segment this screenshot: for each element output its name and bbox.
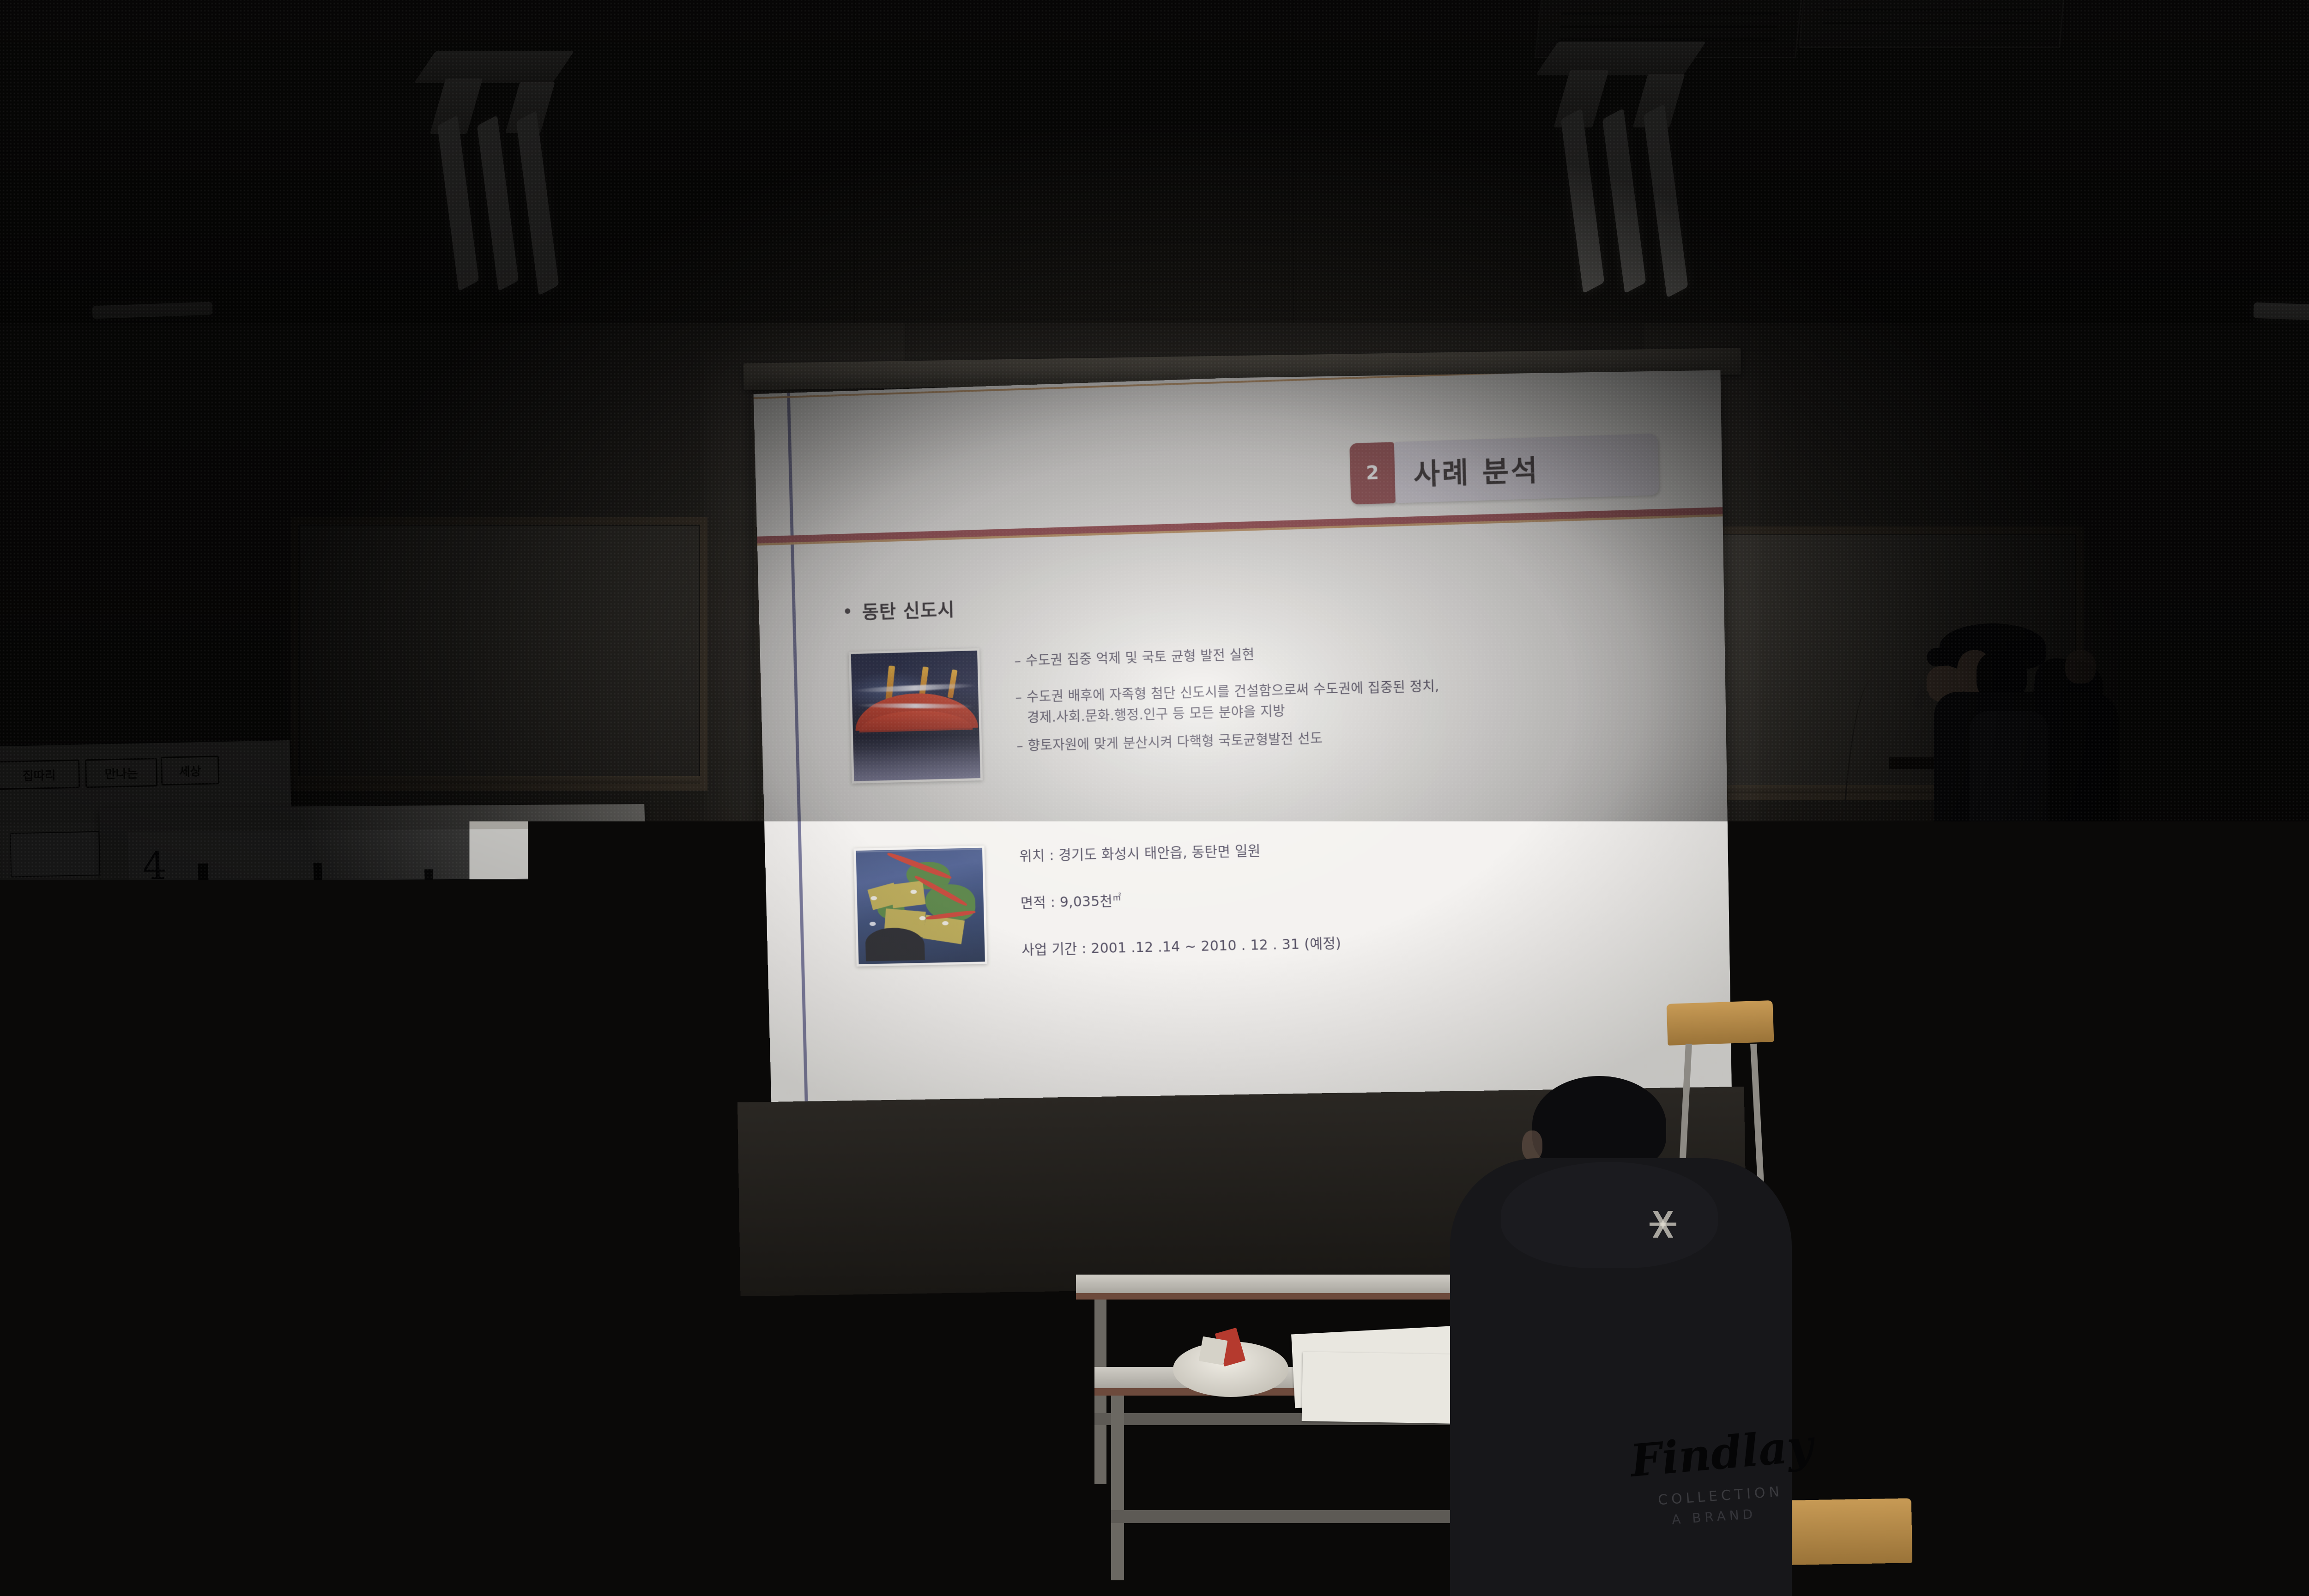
slide-title-divider-thin xyxy=(757,514,1726,545)
info-row-period: 사업 기간 : 2001 .12 .14 ~ 2010 . 12 . 31 (예… xyxy=(1022,925,1680,958)
bullet-dash-1: – xyxy=(1014,651,1022,671)
bullet-dot-icon xyxy=(845,608,850,614)
chair-under-board-1 xyxy=(295,1208,403,1252)
presenter xyxy=(1884,623,2143,1270)
seated-student-ear xyxy=(1522,1130,1542,1160)
info-row-location: 위치 : 경기도 화성시 태안읍, 동탄면 일원 xyxy=(1019,829,1678,865)
presenter-left-leg xyxy=(1962,1011,2031,1251)
info-label-period: 사업 기간 xyxy=(1022,941,1077,958)
bullet-text-2: 수도권 배후에 자족형 첨단 신도시를 건설함으로써 수도권에 집중된 정치, … xyxy=(1027,670,1674,728)
microphone xyxy=(1911,688,1930,710)
seated-student-hood xyxy=(1501,1162,1718,1268)
scattered-documents-right-2 xyxy=(2030,1302,2227,1381)
whiteboard-left xyxy=(291,517,707,791)
slide-section-badge: 2 사례 분석 xyxy=(1349,434,1659,505)
desk-foreground-right xyxy=(1016,1519,1755,1596)
ceiling-light-fixture-1 xyxy=(397,46,693,305)
slide-info-block: 위치 : 경기도 화성시 태안읍, 동탄면 일원 면적 : 9,035천㎡ 사업… xyxy=(1019,829,1681,985)
slide-bullet-list: – 수도권 집중 억제 및 국토 균형 발전 실현 – 수도권 배후에 자족형 … xyxy=(1014,633,1675,772)
slide-bullet-1: – 수도권 집중 억제 및 국토 균형 발전 실현 xyxy=(1014,633,1673,671)
slide-title-divider xyxy=(757,507,1725,544)
aerial-masterplan-photo xyxy=(853,846,987,967)
info-label-location: 위치 xyxy=(1019,848,1045,864)
slide-heading-text: 동탄 신도시 xyxy=(862,595,955,624)
ceiling xyxy=(0,0,2309,351)
classroom-presentation-scene: 2 사례 분석 동탄 신도시 xyxy=(0,0,2309,1596)
info-unit-area: ㎡ xyxy=(1112,893,1122,903)
hoodie-snowflake-emblem-icon xyxy=(1650,1211,1676,1238)
presenter-right-leg xyxy=(2033,1011,2105,1251)
document-near-hoodie xyxy=(1819,1263,1959,1309)
desk-foreground-left xyxy=(51,1445,374,1596)
slide-heading: 동탄 신도시 xyxy=(845,595,955,624)
slide-section-title: 사례 분석 xyxy=(1394,434,1659,503)
lectern-podium xyxy=(2170,891,2309,1307)
projection-screen: 2 사례 분석 동탄 신도시 xyxy=(751,370,1732,1111)
presenter-belt xyxy=(1962,993,2096,1013)
seated-student-center: Findlay COLLECTION A BRAND xyxy=(1432,1076,1801,1596)
slide-section-number: 2 xyxy=(1349,442,1396,504)
chair-near-screen xyxy=(1666,1000,1774,1046)
bridge-night-photo xyxy=(849,648,983,784)
info-row-area: 면적 : 9,035천㎡ xyxy=(1020,877,1679,912)
info-sep-3: : xyxy=(1082,941,1091,957)
whiteboard-tray-left xyxy=(284,776,700,784)
chair-under-board-2 xyxy=(498,1190,615,1236)
microphone-cable xyxy=(1838,679,1909,1256)
chair-far-right xyxy=(2249,1492,2309,1547)
info-value-period: 2001 .12 .14 ~ 2010 . 12 . 31 (예정) xyxy=(1091,936,1342,957)
presenter-inner-shirt xyxy=(1970,711,2048,961)
presentation-slide: 2 사례 분석 동탄 신도시 xyxy=(754,370,1732,1111)
slide-bullet-2: – 수도권 배후에 자족형 첨단 신도시를 건설함으로써 수도권에 집중된 정치… xyxy=(1015,670,1674,728)
bullet-dash-3: – xyxy=(1016,736,1024,756)
presenter-raised-hand xyxy=(2065,650,2096,683)
info-sep-2: : xyxy=(1050,895,1060,911)
snack-wrapper-2 xyxy=(1199,1336,1228,1366)
bullet-dash-2: – xyxy=(1015,687,1023,729)
ceiling-light-fixture-2 xyxy=(1519,37,1843,314)
info-value-area: 9,035천 xyxy=(1059,893,1112,910)
info-value-location: 경기도 화성시 태안읍, 동탄면 일원 xyxy=(1058,843,1261,864)
bullet-text-1: 수도권 집중 억제 및 국토 균형 발전 실현 xyxy=(1026,633,1673,671)
chair-under-board-1-leg xyxy=(314,1247,320,1399)
info-sep-1: : xyxy=(1049,847,1059,864)
info-label-area: 면적 xyxy=(1020,895,1046,911)
slide-vertical-accent-line xyxy=(787,393,808,1110)
